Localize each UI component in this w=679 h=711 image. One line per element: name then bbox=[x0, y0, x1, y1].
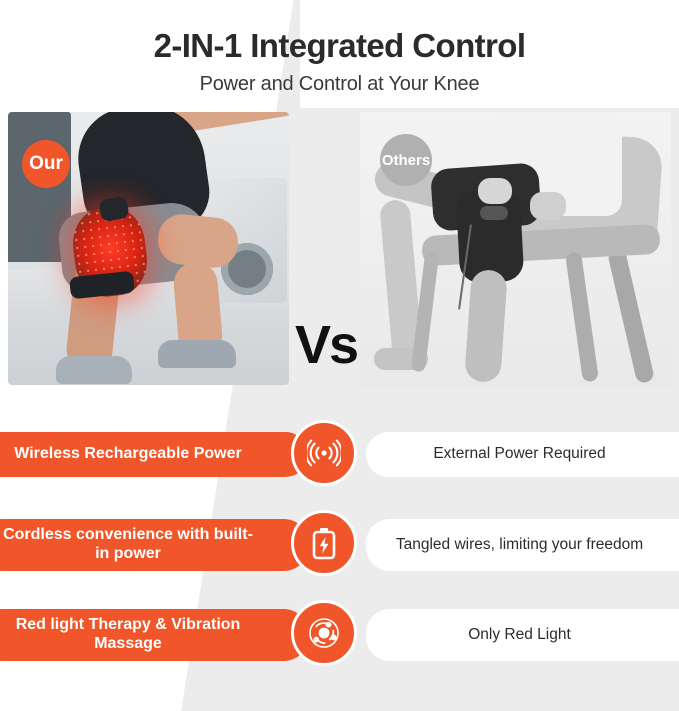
others-feature-pill: Tangled wires, limiting your freedom bbox=[366, 519, 679, 571]
feature-row: Cordless convenience with built-in power… bbox=[0, 514, 679, 594]
vs-label: Vs bbox=[288, 318, 364, 372]
our-feature-pill: Wireless Rechargeable Power bbox=[0, 432, 308, 477]
header: 2-IN-1 Integrated Control Power and Cont… bbox=[0, 0, 679, 96]
photo-comparison: Our Others Vs bbox=[0, 112, 679, 390]
other-hand-left bbox=[478, 178, 512, 204]
our-product-photo: Our bbox=[8, 112, 289, 385]
page-subtitle: Power and Control at Your Knee bbox=[0, 73, 679, 96]
our-badge: Our bbox=[22, 140, 70, 188]
our-feature-pill: Red light Therapy & Vibration Massage bbox=[0, 609, 308, 661]
athlete-shoe-far bbox=[158, 340, 236, 368]
others-product-photo: Others bbox=[360, 112, 671, 387]
feature-row: Red light Therapy & Vibration Massage On… bbox=[0, 604, 679, 684]
vibration-massage-icon bbox=[291, 600, 357, 666]
page-title: 2-IN-1 Integrated Control bbox=[0, 28, 679, 64]
others-feature-pill: Only Red Light bbox=[366, 609, 679, 661]
feature-row: Wireless Rechargeable Power External Pow… bbox=[0, 424, 679, 504]
others-badge: Others bbox=[380, 134, 432, 186]
wireless-signal-icon bbox=[291, 420, 357, 486]
others-feature-pill: External Power Required bbox=[366, 432, 679, 477]
corded-brace-control bbox=[480, 206, 508, 220]
feature-comparison-list: Wireless Rechargeable Power External Pow… bbox=[0, 424, 679, 694]
other-hand-right bbox=[530, 192, 566, 220]
battery-charging-icon bbox=[291, 510, 357, 576]
athlete-shoe-near bbox=[56, 356, 132, 384]
infographic-root: 2-IN-1 Integrated Control Power and Cont… bbox=[0, 0, 679, 711]
our-feature-pill: Cordless convenience with built-in power bbox=[0, 519, 308, 571]
